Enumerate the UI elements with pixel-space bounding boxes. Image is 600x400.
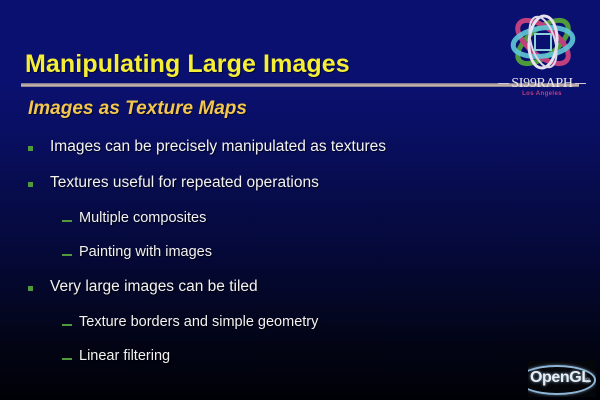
opengl-logo: OpenGL ®: [528, 361, 596, 397]
bullet-list: Images can be precisely manipulated as t…: [0, 138, 600, 382]
list-item: Images can be precisely manipulated as t…: [0, 138, 600, 174]
list-item: Texture borders and simple geometry: [0, 314, 600, 348]
dash-bullet-icon: [62, 220, 72, 222]
dash-bullet-icon: [62, 358, 72, 360]
opengl-trademark: ®: [585, 378, 590, 385]
list-item-label: Textures useful for repeated operations: [50, 174, 319, 192]
opengl-logo-text: OpenGL: [530, 369, 591, 387]
siggraph-city-label: Los Angeles: [490, 91, 594, 97]
list-item-label: Very large images can be tiled: [50, 278, 258, 296]
siggraph-wordmark: SI99RAPH: [490, 76, 594, 92]
wordmark-left-dash: [498, 83, 509, 84]
list-item: Textures useful for repeated operations: [0, 174, 600, 210]
list-item: Painting with images: [0, 244, 600, 278]
siggraph-wordmark-text: SI99RAPH: [511, 76, 572, 91]
dash-bullet-icon: [62, 324, 72, 326]
list-item-label: Linear filtering: [79, 348, 170, 364]
slide-canvas: Manipulating Large Images Images as Text…: [0, 0, 600, 400]
list-item-label: Texture borders and simple geometry: [79, 314, 318, 330]
list-item-label: Images can be precisely manipulated as t…: [50, 138, 386, 156]
list-item-label: Painting with images: [79, 244, 212, 260]
list-item: Linear filtering: [0, 348, 600, 382]
list-item: Very large images can be tiled: [0, 278, 600, 314]
square-bullet-icon: [28, 182, 33, 187]
siggraph-rings-icon: [498, 6, 588, 78]
square-bullet-icon: [28, 146, 33, 151]
wordmark-right-dash: [575, 83, 586, 84]
list-item-label: Multiple composites: [79, 210, 206, 226]
list-item: Multiple composites: [0, 210, 600, 244]
page-title: Manipulating Large Images: [25, 50, 350, 79]
page-subtitle: Images as Texture Maps: [28, 98, 247, 120]
square-bullet-icon: [28, 286, 33, 291]
siggraph-logo: SI99RAPH Los Angeles: [490, 6, 594, 104]
dash-bullet-icon: [62, 254, 72, 256]
